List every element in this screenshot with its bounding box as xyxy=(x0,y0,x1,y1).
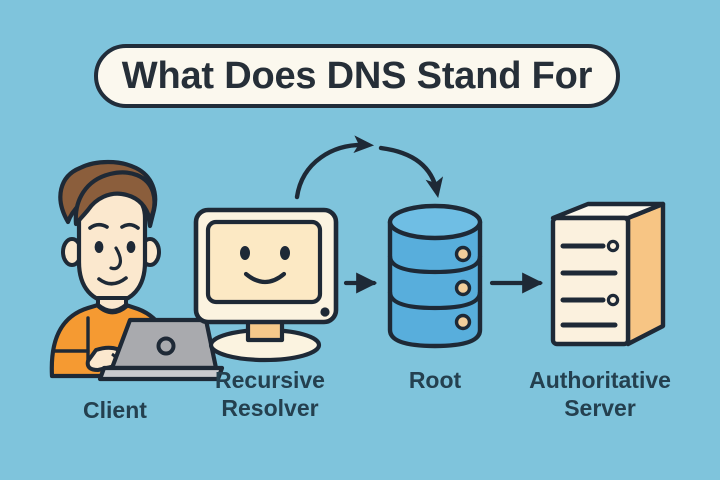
connector-arc-down-to-root xyxy=(381,148,437,192)
node-label-authoritative-server: Authoritative Server xyxy=(505,366,695,422)
server-tower-icon xyxy=(553,204,663,344)
node-label-recursive-resolver: Recursive Resolver xyxy=(180,366,360,422)
dns-diagram-image: What Does DNS Stand For Client Recursive… xyxy=(0,0,720,480)
smiling-monitor-icon xyxy=(196,210,336,360)
title-badge: What Does DNS Stand For xyxy=(94,44,620,108)
database-cylinder-icon xyxy=(390,206,480,346)
page-title: What Does DNS Stand For xyxy=(122,55,592,98)
connector-resolver-up-curve xyxy=(297,145,368,197)
node-label-root: Root xyxy=(375,366,495,394)
node-label-client: Client xyxy=(30,396,200,424)
